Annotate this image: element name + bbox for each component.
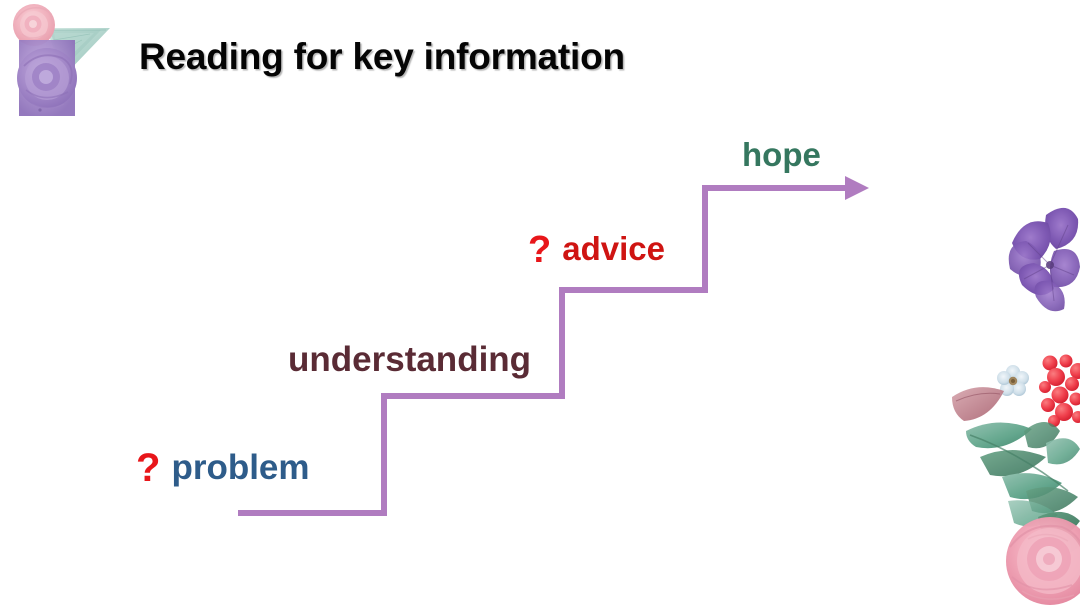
step-label-problem[interactable]: ?problem (136, 448, 310, 488)
question-mark-icon: ? (528, 229, 551, 271)
question-mark-icon: ? (136, 446, 160, 490)
step-label-understanding[interactable]: understanding (288, 342, 531, 377)
step-label-advice-text: advice (562, 230, 665, 267)
step-label-hope[interactable]: hope (742, 138, 821, 171)
step-label-problem-text: problem (171, 448, 309, 487)
step-label-hope-text: hope (742, 136, 821, 173)
step-label-advice[interactable]: ?advice (528, 231, 665, 269)
slide-canvas: Reading for key information ?problem und… (0, 0, 1080, 608)
staircase-diagram (0, 0, 1080, 608)
step-label-understanding-text: understanding (288, 340, 531, 379)
arrowhead-icon (845, 176, 869, 200)
